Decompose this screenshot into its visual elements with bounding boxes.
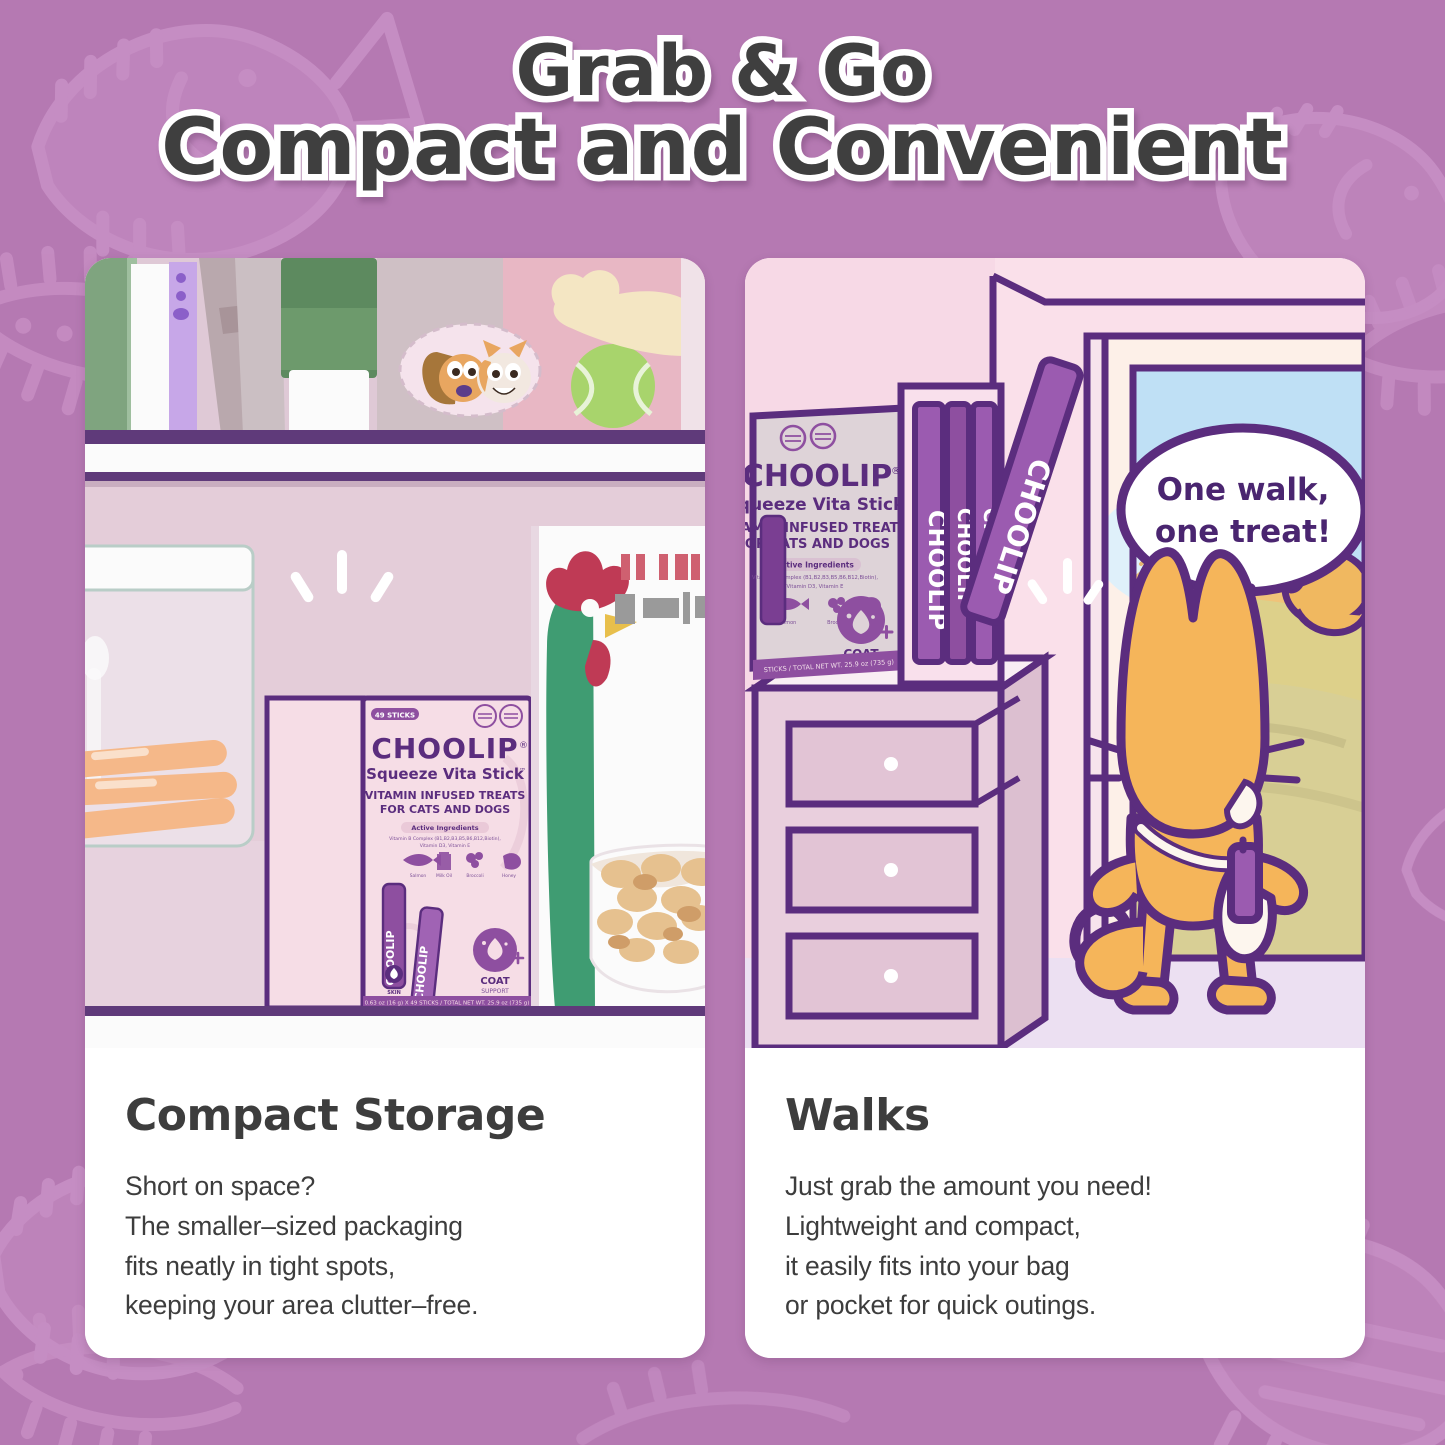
speech-bubble-line-1: One walk, <box>1157 472 1330 508</box>
headline-line-2: Compact and Convenient <box>0 109 1445 189</box>
page-headline: Grab & Go Compact and Convenient <box>0 36 1445 189</box>
svg-text:Vitamin D3, Vitamin E: Vitamin D3, Vitamin E <box>420 843 470 849</box>
box-tagline-1: VITAMIN INFUSED TREATS <box>365 789 526 802</box>
illustration-doorway-walk: One walk, one treat! <box>745 258 1365 1048</box>
headline-line-1: Grab & Go <box>0 36 1445 107</box>
dresser <box>755 658 1045 1048</box>
speech-bubble-line-2: one treat! <box>1155 514 1331 550</box>
box-tagline-2: FOR CATS AND DOGS <box>380 803 510 816</box>
card-caption-right: Walks Just grab the amount you need! Lig… <box>745 1048 1365 1358</box>
rooster-cereal-box <box>531 526 705 1008</box>
svg-text:Milk Oil: Milk Oil <box>436 873 452 879</box>
feature-card-compact-storage: CHOOLIP CHOOLIP CHOOLIP <box>85 258 705 1358</box>
box-benefit-badge-line2: SUPPORT <box>481 988 509 995</box>
svg-text:Vitamin D3, Vitamin E: Vitamin D3, Vitamin E <box>787 584 844 590</box>
svg-text:Active Ingredients: Active Ingredients <box>776 561 854 570</box>
box-benefit-badge-line1: COAT <box>480 976 510 987</box>
card-title-walks: Walks <box>785 1090 1325 1141</box>
svg-text:Squeeze Vita Stick: Squeeze Vita Stick <box>745 495 905 515</box>
box-ingredients-label: Active Ingredients <box>411 824 478 832</box>
card-caption-left: Compact Storage Short on space? The smal… <box>85 1048 705 1358</box>
svg-text:®: ® <box>519 741 528 751</box>
box-count-badge: 49 STICKS <box>375 712 415 720</box>
svg-text:Broccoli: Broccoli <box>466 873 483 879</box>
card-title-compact-storage: Compact Storage <box>125 1090 665 1141</box>
card-body-walks: Just grab the amount you need! Lightweig… <box>785 1167 1325 1326</box>
svg-text:Vitamin B Complex (B1,B2,B3,B5: Vitamin B Complex (B1,B2,B3,B5,B6,B12,Bi… <box>389 836 501 842</box>
box-subtitle: Squeeze Vita Stick <box>366 765 525 783</box>
choolip-product-box: 49 STICKS CHOOLIP ® Squeeze Vita Stick ™… <box>363 698 531 1008</box>
box-brand-name: CHOOLIP <box>371 732 518 765</box>
stick-benefit-badge: SKIN <box>387 990 401 996</box>
illustration-cabinet-shelf: CHOOLIP CHOOLIP CHOOLIP <box>85 258 705 1048</box>
svg-text:™: ™ <box>519 767 526 775</box>
svg-text:Salmon: Salmon <box>410 873 427 879</box>
card-body-compact-storage: Short on space? The smaller–sized packag… <box>125 1167 665 1326</box>
svg-text:CHOOLIP: CHOOLIP <box>745 459 892 494</box>
glass-jar-of-treats <box>85 546 253 846</box>
top-shelf-items <box>85 258 705 438</box>
feature-card-walks: One walk, one treat! <box>745 258 1365 1358</box>
box-net-weight: 0.63 oz (16 g) X 49 STICKS / TOTAL NET W… <box>365 1001 530 1007</box>
svg-text:Honey: Honey <box>502 873 516 879</box>
